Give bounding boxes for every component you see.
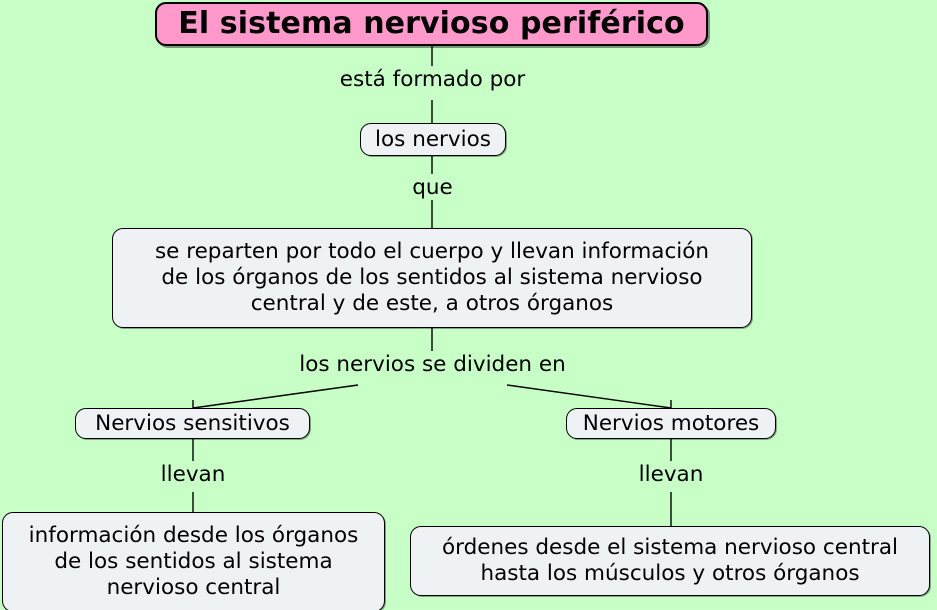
node-informacion-sensitiva-label: información desde los órganos de los sen…: [29, 523, 359, 602]
node-informacion-sensitiva-line-1: información desde los órganos: [29, 523, 359, 548]
node-informacion-sensitiva-line-2: de los sentidos al sistema: [54, 549, 332, 574]
edge-label-llevan-right-text: llevan: [639, 462, 704, 487]
node-ordenes-motoras-line-1: órdenes desde el sistema nervioso centra…: [442, 535, 898, 560]
edge-label3-to-sensitivos: [193, 385, 358, 408]
node-se-reparten-line-1: se reparten por todo el cuerpo y llevan …: [155, 239, 709, 264]
edge-label-que-text: que: [412, 175, 453, 200]
node-nervios-sensitivos[interactable]: Nervios sensitivos: [75, 408, 310, 439]
node-nervios-sensitivos-label: Nervios sensitivos: [95, 411, 290, 436]
node-ordenes-motoras[interactable]: órdenes desde el sistema nervioso centra…: [410, 526, 930, 596]
node-nervios-motores-label: Nervios motores: [583, 411, 760, 436]
node-informacion-sensitiva-line-3: nervioso central: [107, 575, 281, 600]
node-se-reparten[interactable]: se reparten por todo el cuerpo y llevan …: [112, 228, 752, 328]
edge-label-esta-formado-por: está formado por: [0, 68, 865, 92]
edge-label-esta-formado-por-text: está formado por: [340, 67, 525, 92]
node-los-nervios[interactable]: los nervios: [360, 123, 506, 156]
edge-label-que: que: [0, 176, 865, 200]
node-root-title-label: El sistema nervioso periférico: [178, 6, 684, 41]
edge-label-llevan-left-text: llevan: [161, 462, 226, 487]
node-nervios-motores[interactable]: Nervios motores: [566, 408, 776, 439]
edge-label-se-dividen-en-text: los nervios se dividen en: [299, 352, 566, 377]
edge-label-llevan-right: llevan: [571, 463, 771, 487]
edge-label3-to-motores: [507, 385, 671, 408]
node-informacion-sensitiva[interactable]: información desde los órganos de los sen…: [2, 512, 385, 610]
node-se-reparten-line-3: central y de este, a otros órganos: [251, 291, 614, 316]
node-se-reparten-label: se reparten por todo el cuerpo y llevan …: [155, 239, 709, 318]
node-ordenes-motoras-line-2: hasta los músculos y otros órganos: [480, 561, 859, 586]
node-ordenes-motoras-label: órdenes desde el sistema nervioso centra…: [442, 535, 898, 587]
edge-label-se-dividen-en: los nervios se dividen en: [0, 353, 865, 377]
edge-label-llevan-left: llevan: [93, 463, 293, 487]
node-se-reparten-line-2: de los órganos de los sentidos al sistem…: [161, 265, 702, 290]
concept-map-canvas: El sistema nervioso periférico está form…: [0, 0, 937, 610]
node-root-title[interactable]: El sistema nervioso periférico: [155, 2, 708, 46]
node-los-nervios-label: los nervios: [375, 127, 491, 152]
